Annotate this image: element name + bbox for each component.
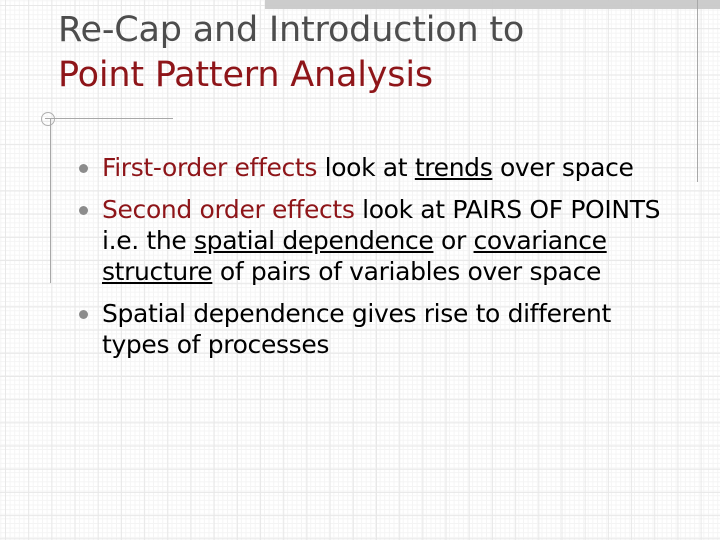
bullet-dot-icon: [79, 310, 88, 319]
bullet-dot-icon: [79, 206, 88, 215]
bullet-text-first-order: First-order effects look at trends over …: [102, 153, 634, 182]
bullet-segment: Spatial dependence gives rise to differe…: [102, 299, 611, 359]
bullet-segment: look at: [317, 153, 415, 182]
slide-canvas: Re-Cap and Introduction to Point Pattern…: [0, 0, 720, 540]
bullet-dot-icon: [79, 164, 88, 173]
bullet-segment: First-order effects: [102, 153, 317, 182]
bullet-segment: over space: [492, 153, 633, 182]
bullet-segment: spatial dependence: [194, 226, 433, 255]
bullet-text-second-order: Second order effects look at PAIRS OF PO…: [102, 195, 660, 286]
bullet-segment: trends: [415, 153, 493, 182]
slide-body: First-order effects look at trends over …: [76, 152, 676, 371]
slide-title: Re-Cap and Introduction to Point Pattern…: [58, 8, 698, 98]
bullet-item-first-order: First-order effects look at trends over …: [76, 152, 676, 183]
bullet-item-second-order: Second order effects look at PAIRS OF PO…: [76, 194, 676, 287]
bullet-text-spatial-dependence: Spatial dependence gives rise to differe…: [102, 299, 611, 359]
crosshair-circle-icon: [41, 112, 55, 126]
ornament-horizontal-line: [45, 118, 173, 119]
slide-title-line-1: Re-Cap and Introduction to: [58, 8, 698, 53]
bullet-item-spatial-dependence: Spatial dependence gives rise to differe…: [76, 298, 676, 360]
bullet-segment: Second order effects: [102, 195, 355, 224]
ornament-vertical-line: [50, 118, 51, 283]
bullet-segment: of pairs of variables over space: [212, 257, 601, 286]
bullet-segment: or: [433, 226, 473, 255]
slide-title-line-2: Point Pattern Analysis: [58, 53, 698, 98]
